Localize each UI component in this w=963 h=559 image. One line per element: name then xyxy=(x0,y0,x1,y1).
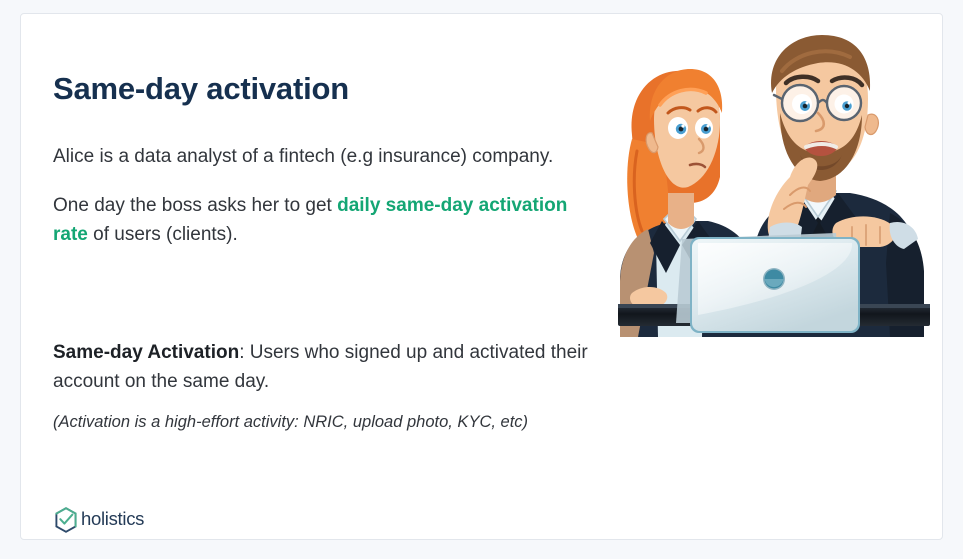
definition-term: Same-day Activation xyxy=(53,342,239,363)
page-title: Same-day activation xyxy=(53,71,349,107)
slide-card: Same-day activation Alice is a data anal… xyxy=(20,13,943,540)
holistics-logo: holistics xyxy=(53,506,144,534)
paragraph-request-prefix: One day the boss asks her to get xyxy=(53,195,337,216)
holistics-wordmark: holistics xyxy=(81,510,144,530)
paragraph-request-suffix: of users (clients). xyxy=(88,224,238,245)
definition-block: Same-day Activation: Users who signed up… xyxy=(53,338,593,396)
holistics-hexagon-check-icon xyxy=(53,506,79,534)
definition-separator: : xyxy=(239,342,250,363)
paragraph-intro-text: Alice is a data analyst of a fintech (e.… xyxy=(53,146,553,167)
laptop xyxy=(676,233,860,333)
paragraph-request: One day the boss asks her to get daily s… xyxy=(53,191,573,249)
two-colleagues-at-laptop-illustration xyxy=(604,27,943,337)
paragraph-intro: Alice is a data analyst of a fintech (e.… xyxy=(53,142,573,171)
body-text-column: Alice is a data analyst of a fintech (e.… xyxy=(53,142,573,249)
definition-paragraph: Same-day Activation: Users who signed up… xyxy=(53,338,593,396)
activation-note: (Activation is a high-effort activity: N… xyxy=(53,410,613,434)
